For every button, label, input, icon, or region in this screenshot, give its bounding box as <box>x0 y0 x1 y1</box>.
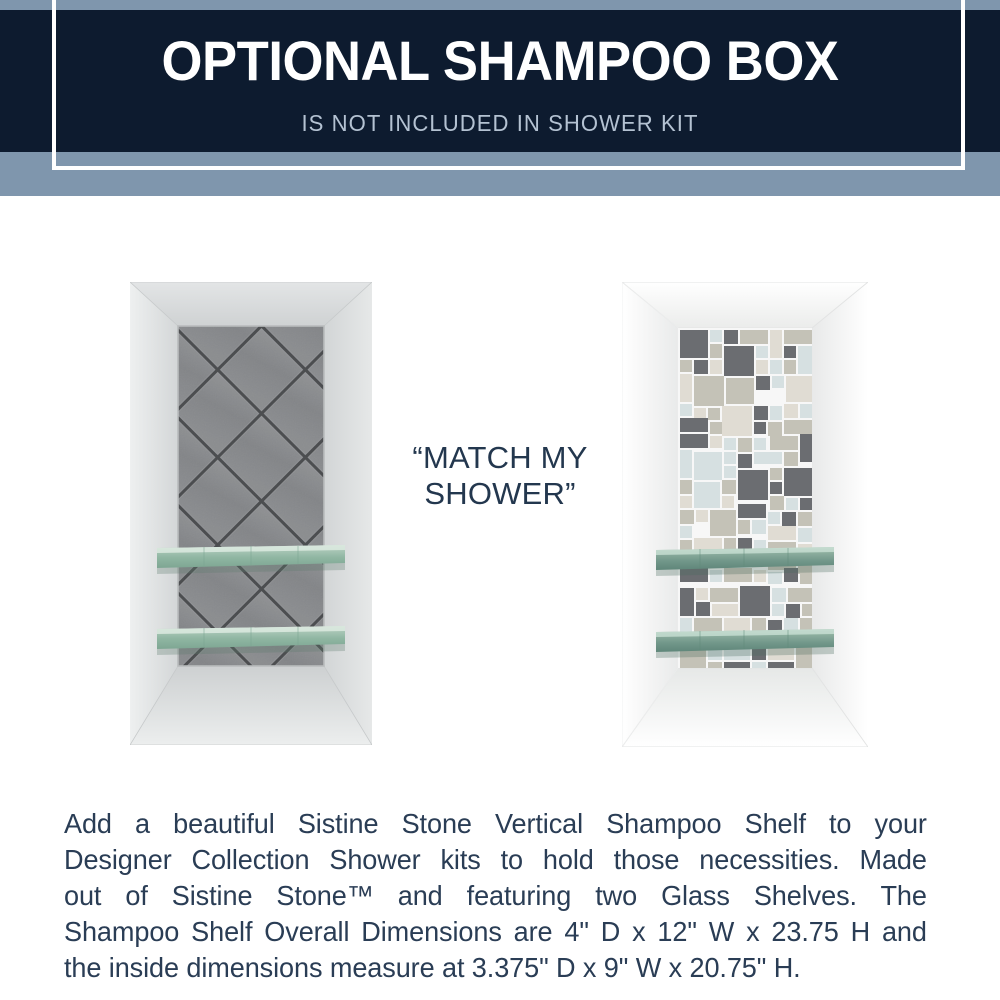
caption-line-1: “MATCH MY <box>386 440 614 476</box>
description-line-3: out of Sistine Stone™ and featuring two … <box>64 878 927 914</box>
description-line-4: Shampoo Shelf Overall Dimensions are 4" … <box>64 914 927 950</box>
page-subtitle: IS NOT INCLUDED IN SHOWER KIT <box>20 112 980 135</box>
glass-shelf <box>157 545 345 574</box>
product-description: Add a beautiful Sistine Stone Vertical S… <box>64 806 927 986</box>
caption-line-2: SHOWER” <box>386 476 614 512</box>
glass-shelf <box>656 629 834 658</box>
description-line-2: Designer Collection Shower kits to hold … <box>64 842 927 878</box>
header-banner: OPTIONAL SHAMPOO BOX IS NOT INCLUDED IN … <box>0 0 1000 196</box>
description-line-5: the inside dimensions measure at 3.375" … <box>64 950 927 986</box>
product-image-gray-diamond-niche <box>130 282 372 745</box>
match-my-shower-caption: “MATCH MY SHOWER” <box>386 440 614 513</box>
description-line-1: Add a beautiful Sistine Stone Vertical S… <box>64 806 927 842</box>
glass-shelf <box>656 547 834 576</box>
page-title: OPTIONAL SHAMPOO BOX <box>30 33 970 89</box>
glass-shelf <box>157 626 345 655</box>
product-image-mosaic-niche <box>622 282 868 747</box>
